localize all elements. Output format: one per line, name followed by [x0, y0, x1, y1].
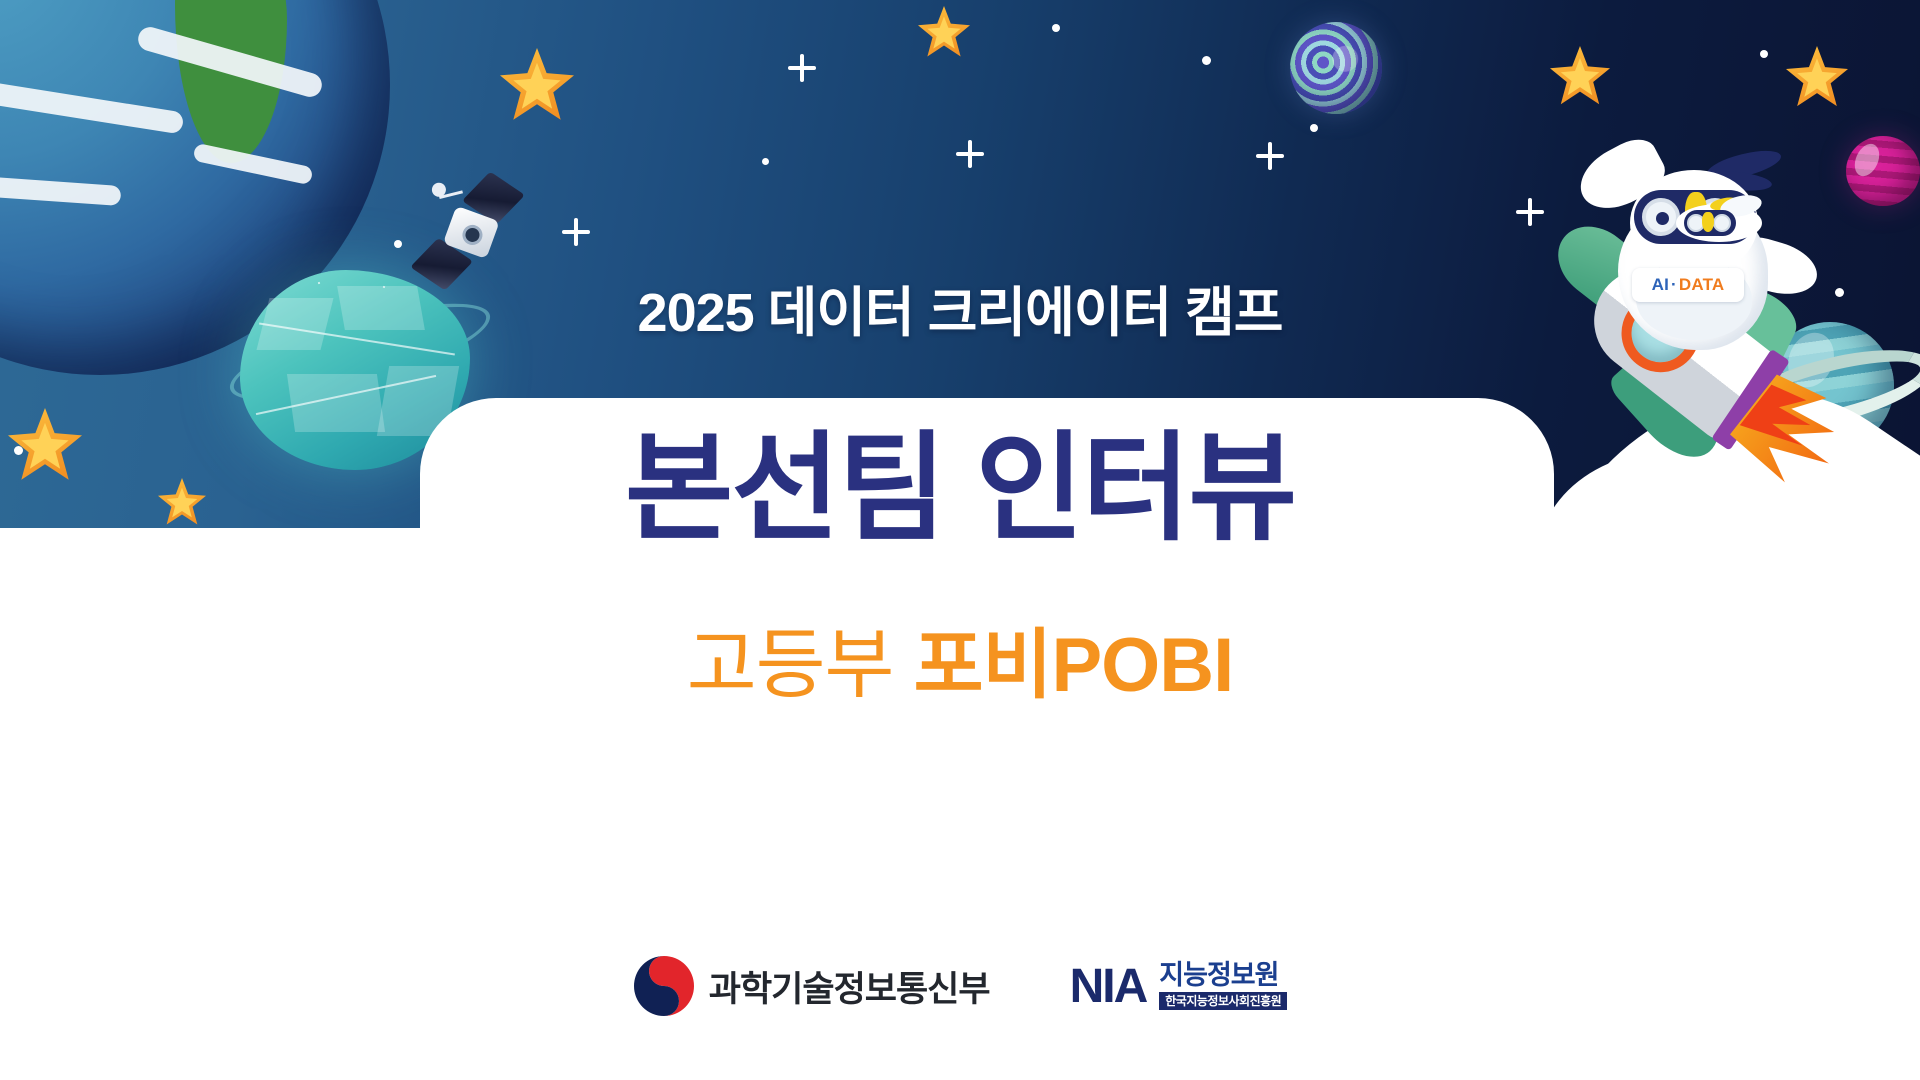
- mascot-lens: [1642, 198, 1680, 236]
- nia-full-name: 한국지능정보사회진흥원: [1159, 992, 1287, 1010]
- msit-logo: 과학기술정보통신부: [633, 955, 990, 1017]
- sparkle-icon: [800, 54, 804, 82]
- nia-mark-text: NIA: [1070, 959, 1147, 1014]
- mascot-pupil: [1656, 212, 1669, 225]
- earth-cloud: [0, 81, 184, 134]
- event-title: 2025 데이터 크리에이터 캠프: [0, 268, 1920, 347]
- star-dot: [394, 240, 402, 248]
- sparkle-icon: [968, 140, 972, 168]
- gold-star-icon: [1786, 46, 1848, 108]
- gold-star-icon: [500, 48, 574, 122]
- star-dot: [1052, 24, 1060, 32]
- swirl-planet-icon: [1290, 22, 1382, 114]
- mascot-companion-chick: [1676, 198, 1762, 246]
- page-title: 본선팀 인터뷰: [0, 430, 1920, 548]
- star-dot: [1310, 124, 1318, 132]
- earth-cloud: [0, 170, 122, 206]
- nia-text-block: 지능정보원 한국지능정보사회진흥원: [1159, 962, 1287, 1010]
- star-dot: [762, 158, 769, 165]
- slide-canvas: AI · DATA 2025 데이터 크리에이터 캠프 본선팀 인터뷰: [0, 0, 1920, 1080]
- msit-name: 과학기술정보통신부: [709, 961, 990, 1012]
- sparkle-icon: [1268, 142, 1272, 170]
- nia-korean-name: 지능정보원: [1159, 962, 1287, 989]
- star-dot: [1760, 50, 1768, 58]
- sparkle-icon: [574, 218, 578, 246]
- chick-beak: [1702, 212, 1714, 232]
- star-dot: [1202, 56, 1211, 65]
- sponsor-logos: 과학기술정보통신부 NIA 지능정보원 한국지능정보사회진흥원: [0, 955, 1920, 1017]
- taegeuk-emblem-icon: [633, 955, 695, 1017]
- taegeuk-svg: [633, 955, 695, 1017]
- nia-logo: NIA 지능정보원 한국지능정보사회진흥원: [1070, 959, 1288, 1014]
- division-label: 고등부: [687, 623, 894, 708]
- gold-star-icon: [1550, 46, 1610, 106]
- team-subtitle: 고등부 포비POBI: [0, 628, 1920, 704]
- gold-star-icon: [918, 6, 970, 58]
- team-name-label: 포비POBI: [914, 623, 1234, 708]
- chick-lens: [1713, 214, 1731, 232]
